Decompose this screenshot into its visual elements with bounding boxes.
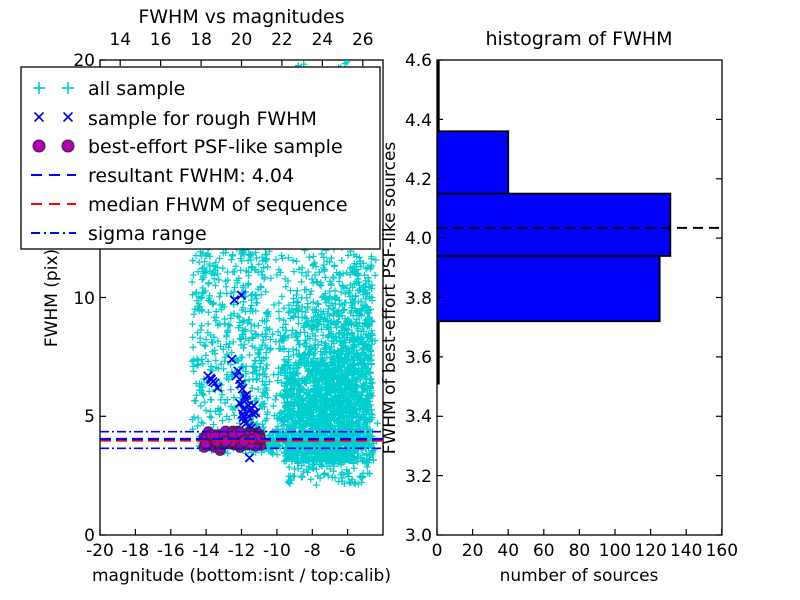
left-xtick-1: -18 [122, 541, 150, 561]
legend-box [21, 67, 380, 249]
left-xtop-tick-3: 20 [231, 30, 253, 50]
left-ytick-10: 10 [73, 289, 95, 309]
right-xtick-4: 80 [569, 541, 591, 561]
right-ytick-6: 4.2 [405, 170, 432, 190]
legend-label-median-fwhm: median FHWM of sequence [88, 194, 348, 216]
right-xtick-8: 160 [706, 541, 738, 561]
left-xtop-tick-4: 22 [271, 30, 293, 50]
right-xtick-6: 120 [634, 541, 666, 561]
right-y-tick-labels: 3.0 3.2 3.4 3.6 3.8 4.0 4.2 4.4 4.6 [405, 51, 432, 546]
left-xtick-5: -10 [263, 541, 291, 561]
right-xtick-2: 40 [497, 541, 519, 561]
left-xtop-tick-0: 14 [109, 30, 131, 50]
legend-label-all-sample: all sample [88, 78, 185, 100]
legend-label-psf-sample: best-effort PSF-like sample [88, 136, 343, 158]
left-x-bottom-tick-labels: -20 -18 -16 -14 -12 -10 -8 -6 [86, 541, 356, 561]
histogram-bar [437, 60, 439, 131]
right-xtick-1: 20 [462, 541, 484, 561]
left-y-axis-label: FWHM (pix) [42, 249, 62, 347]
left-xtick-3: -14 [192, 541, 220, 561]
left-xtick-4: -12 [228, 541, 256, 561]
right-ytick-0: 3.0 [405, 526, 432, 546]
right-ytick-7: 4.4 [405, 111, 432, 131]
right-ytick-4: 3.8 [405, 289, 432, 309]
right-panel-histogram: 0 20 40 60 80 100 120 140 160 [380, 28, 738, 586]
left-xtop-tick-6: 26 [352, 30, 374, 50]
right-ytick-2: 3.4 [405, 407, 432, 427]
histogram-bar [437, 194, 670, 256]
right-xtick-5: 100 [599, 541, 631, 561]
right-y-axis-label: FWHM of best-effort PSF-like sources [380, 142, 400, 455]
matplotlib-figure: -20 -18 -16 -14 -12 -10 -8 -6 14 [0, 0, 800, 600]
legend-label-rough-fwhm: sample for rough FWHM [88, 108, 317, 130]
right-xtick-0: 0 [432, 541, 443, 561]
right-ytick-3: 3.6 [405, 348, 432, 368]
left-xtick-7: -6 [339, 541, 356, 561]
left-ytick-0: 0 [84, 526, 95, 546]
histogram-bar [437, 131, 508, 193]
left-xtick-6: -8 [304, 541, 321, 561]
left-xtick-2: -16 [157, 541, 185, 561]
figure-canvas: -20 -18 -16 -14 -12 -10 -8 -6 14 [0, 0, 800, 600]
right-ytick-8: 4.6 [405, 51, 432, 71]
left-xtop-tick-5: 24 [312, 30, 334, 50]
left-x-axis-label: magnitude (bottom:isnt / top:calib) [92, 566, 391, 586]
right-x-axis-label: number of sources [500, 566, 659, 586]
histogram-bar [437, 321, 439, 383]
right-xtick-3: 60 [533, 541, 555, 561]
right-xtick-7: 140 [670, 541, 702, 561]
left-xtop-tick-1: 16 [150, 30, 172, 50]
right-ytick-1: 3.2 [405, 467, 432, 487]
left-xtop-tick-2: 18 [190, 30, 212, 50]
right-panel-title: histogram of FWHM [485, 28, 672, 50]
legend[interactable]: all sample sample for rough FWHM best-ef… [21, 67, 380, 249]
right-x-tick-labels: 0 20 40 60 80 100 120 140 160 [432, 541, 738, 561]
legend-label-sigma-range: sigma range [88, 223, 207, 245]
right-ytick-5: 4.0 [405, 229, 432, 249]
legend-label-resultant-fwhm: resultant FWHM: 4.04 [88, 165, 294, 187]
left-panel-title: FWHM vs magnitudes [138, 6, 344, 28]
histogram-bar [437, 256, 660, 321]
left-ytick-5: 5 [84, 407, 95, 427]
left-x-top-tick-labels: 14 16 18 20 22 24 26 [109, 30, 373, 50]
